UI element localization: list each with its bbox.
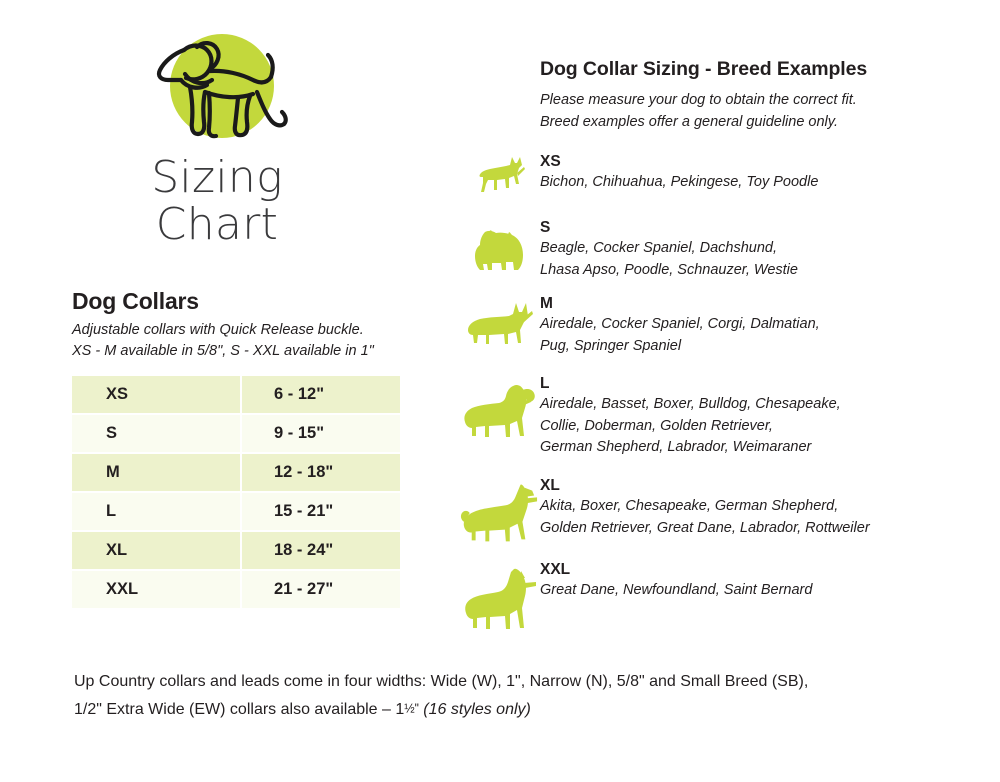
breed-text-block: L Airedale, Basset, Boxer, Bulldog, Ches…: [540, 372, 980, 460]
size-label: S: [72, 415, 242, 452]
breed-size-label: M: [540, 294, 980, 313]
great-dane-silhouette-icon: [460, 558, 540, 634]
breed-name-list: Akita, Boxer, Chesapeake, German Shepher…: [540, 496, 980, 540]
size-label: L: [72, 493, 242, 530]
size-label: XXL: [72, 571, 242, 608]
list-item: M Airedale, Cocker Spaniel, Corgi, Dalma…: [460, 292, 980, 372]
size-range: 21 - 27": [242, 571, 400, 608]
table-row: XXL 21 - 27": [72, 571, 400, 608]
breed-name-line: German Shepherd, Labrador, Weimaraner: [540, 437, 980, 459]
list-item: L Airedale, Basset, Boxer, Bulldog, Ches…: [460, 372, 980, 474]
breed-name-line: Akita, Boxer, Chesapeake, German Shepher…: [540, 496, 980, 518]
terrier-silhouette-icon: [460, 216, 540, 274]
list-item: XXL Great Dane, Newfoundland, Saint Bern…: [460, 558, 980, 634]
corgi-silhouette-icon: [460, 292, 540, 350]
collar-size-table: XS 6 - 12" S 9 - 15" M 12 - 18" L 15 - 2…: [72, 374, 400, 610]
breed-subtitle-line-1: Please measure your dog to obtain the co…: [540, 90, 980, 112]
left-column: Sizing Chart Dog Collars Adjustable coll…: [0, 0, 440, 640]
breed-name-line: Airedale, Cocker Spaniel, Corgi, Dalmati…: [540, 314, 980, 336]
size-range: 6 - 12": [242, 376, 400, 413]
breed-examples-panel: Dog Collar Sizing - Breed Examples Pleas…: [460, 58, 980, 634]
breed-text-block: XS Bichon, Chihuahua, Pekingese, Toy Poo…: [540, 150, 980, 194]
size-range: 9 - 15": [242, 415, 400, 452]
footnote-line-2: 1/2" Extra Wide (EW) collars also availa…: [74, 696, 964, 724]
dog-collars-note-line-1: Adjustable collars with Quick Release bu…: [72, 320, 432, 341]
brand-logo-block: Sizing Chart: [72, 30, 362, 260]
dog-collars-note: Adjustable collars with Quick Release bu…: [72, 320, 432, 363]
breed-name-line: Great Dane, Newfoundland, Saint Bernard: [540, 580, 980, 602]
breed-examples-subtitle: Please measure your dog to obtain the co…: [540, 90, 980, 134]
table-row: M 12 - 18": [72, 454, 400, 491]
breed-text-block: XL Akita, Boxer, Chesapeake, German Shep…: [540, 474, 980, 540]
footnote-fraction: ½'': [404, 701, 419, 715]
breed-name-line: Golden Retriever, Great Dane, Labrador, …: [540, 518, 980, 540]
page-title-line-2: Chart: [72, 201, 362, 248]
breed-name-list: Beagle, Cocker Spaniel, Dachshund, Lhasa…: [540, 238, 980, 282]
footnote-line-2-prefix: 1/2" Extra Wide (EW) collars also availa…: [74, 701, 404, 718]
page-title-line-1: Sizing: [72, 154, 362, 201]
dog-collars-note-line-2: XS - M available in 5/8", S - XXL availa…: [72, 341, 432, 362]
breed-name-line: Bichon, Chihuahua, Pekingese, Toy Poodle: [540, 172, 980, 194]
list-item: S Beagle, Cocker Spaniel, Dachshund, Lha…: [460, 216, 980, 292]
breed-size-label: XL: [540, 476, 980, 495]
breed-subtitle-line-2: Breed examples offer a general guideline…: [540, 112, 980, 134]
footnote: Up Country collars and leads come in fou…: [74, 668, 964, 723]
breed-name-line: Pug, Springer Spaniel: [540, 336, 980, 358]
breed-name-line: Lhasa Apso, Poodle, Schnauzer, Westie: [540, 260, 980, 282]
dog-line-art-icon: [137, 30, 297, 148]
breed-name-line: Beagle, Cocker Spaniel, Dachshund,: [540, 238, 980, 260]
retriever-silhouette-icon: [460, 372, 540, 442]
dog-collars-heading: Dog Collars: [72, 288, 199, 315]
breed-name-list: Bichon, Chihuahua, Pekingese, Toy Poodle: [540, 172, 980, 194]
breed-size-label: XXL: [540, 560, 980, 579]
breed-size-label: S: [540, 218, 980, 237]
list-item: XS Bichon, Chihuahua, Pekingese, Toy Poo…: [460, 150, 980, 216]
size-label: XL: [72, 532, 242, 569]
footnote-styles-note: (16 styles only): [423, 701, 531, 718]
size-range: 12 - 18": [242, 454, 400, 491]
breed-name-list: Airedale, Basset, Boxer, Bulldog, Chesap…: [540, 394, 980, 459]
size-range: 18 - 24": [242, 532, 400, 569]
size-label: M: [72, 454, 242, 491]
table-row: S 9 - 15": [72, 415, 400, 452]
breed-name-list: Airedale, Cocker Spaniel, Corgi, Dalmati…: [540, 314, 980, 358]
german-shepherd-silhouette-icon: [460, 474, 540, 546]
table-row: XS 6 - 12": [72, 376, 400, 413]
page-title: Sizing Chart: [72, 154, 362, 248]
breed-text-block: S Beagle, Cocker Spaniel, Dachshund, Lha…: [540, 216, 980, 282]
breed-size-label: XS: [540, 152, 980, 171]
chihuahua-silhouette-icon: [460, 150, 540, 196]
breed-text-block: M Airedale, Cocker Spaniel, Corgi, Dalma…: [540, 292, 980, 358]
breed-name-list: Great Dane, Newfoundland, Saint Bernard: [540, 580, 980, 602]
breed-examples-heading: Dog Collar Sizing - Breed Examples: [540, 58, 980, 81]
table-row: L 15 - 21": [72, 493, 400, 530]
breed-size-label: L: [540, 374, 980, 393]
list-item: XL Akita, Boxer, Chesapeake, German Shep…: [460, 474, 980, 558]
breed-examples-list: XS Bichon, Chihuahua, Pekingese, Toy Poo…: [460, 150, 980, 634]
breed-name-line: Collie, Doberman, Golden Retriever,: [540, 416, 980, 438]
footnote-line-1: Up Country collars and leads come in fou…: [74, 668, 964, 696]
breed-name-line: Airedale, Basset, Boxer, Bulldog, Chesap…: [540, 394, 980, 416]
table-row: XL 18 - 24": [72, 532, 400, 569]
size-label: XS: [72, 376, 242, 413]
size-range: 15 - 21": [242, 493, 400, 530]
breed-text-block: XXL Great Dane, Newfoundland, Saint Bern…: [540, 558, 980, 602]
